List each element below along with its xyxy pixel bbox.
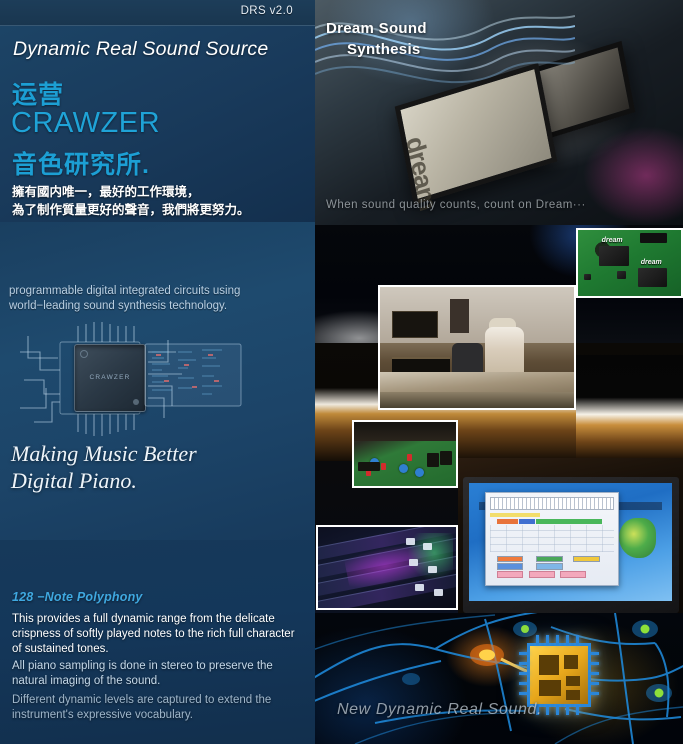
editor-bar-blue: [519, 519, 535, 524]
technology-headline: Making Music Better Digital Piano.: [11, 440, 197, 494]
pcb-component-2: [584, 274, 591, 281]
photo-blurred-light-strip: [576, 355, 683, 461]
editor-highlight-bar: [490, 513, 540, 518]
editor-bar-green: [536, 519, 602, 524]
editor-swatch-blue: [497, 563, 523, 569]
new-dynamic-real-sound-caption: New Dynamic Real Sound.: [337, 701, 542, 719]
technology-block: programmable digital integrated circuits…: [0, 222, 315, 540]
polyphony-paragraph-1: This provides a full dynamic range from …: [12, 612, 304, 656]
schematic-panel-icon: [144, 336, 244, 416]
hero-block: Dynamic Real Sound Source 运营 CRAWZER 音色研…: [0, 26, 315, 222]
mixing-console-front: [380, 392, 574, 408]
version-strip: DRS v2.0: [0, 0, 315, 26]
studio-speaker: [450, 299, 469, 333]
monitor-screen: [469, 483, 672, 601]
pcb-chip-2: dream: [638, 268, 667, 286]
technology-lede: programmable digital integrated circuits…: [9, 284, 240, 314]
hero-subtitle: 擁有國内唯一，最好的工作環境， 為了制作質量更好的聲音，我們將更努力。: [12, 183, 250, 219]
polyphony-title: 128 −Note Polyphony: [12, 590, 143, 604]
desktop-wallpaper-orb: [619, 518, 655, 558]
technology-lede-line-2: world−leading sound synthesis technology…: [9, 299, 240, 314]
editor-swatch-yellow: [573, 556, 599, 562]
polyphony-paragraph-3: Different dynamic levels are captured to…: [12, 693, 304, 723]
chip-orientation-marker: [80, 350, 88, 358]
hero-chinese-line-2: 音色研究所.: [12, 145, 150, 181]
brand-name: CRAWZER: [11, 107, 160, 140]
neural-network-icon: [315, 613, 683, 744]
editor-swatch-lightblue: [536, 563, 562, 569]
new-dynamic-real-sound-block: New Dynamic Real Sound.: [315, 613, 683, 744]
photo-recording-studio: [378, 285, 576, 410]
chip-package: CRAWZER: [74, 344, 146, 412]
dream-sound-title: Dream Sound Synthesis: [326, 18, 427, 60]
pcb-component-1: [617, 271, 626, 279]
board-connector: [358, 462, 380, 471]
mixer-button-5: [415, 584, 424, 591]
board-led-2: [381, 463, 386, 470]
editor-parameter-grid: [490, 525, 614, 553]
board-transistor-1: [427, 453, 439, 467]
photo-monitor-software: [458, 458, 683, 613]
technology-headline-line-2: Digital Piano.: [11, 467, 197, 494]
editor-bar-orange: [497, 519, 518, 524]
board-transistor-2: [440, 451, 452, 465]
dream-chip-primary: dream: [395, 63, 558, 206]
glowing-gold-chip-icon: [527, 643, 591, 707]
board-capacitor-1: [399, 464, 408, 473]
poster-root: DRS v2.0 Dynamic Real Sound Source 运营 CR…: [0, 0, 683, 744]
pcb-chip-1: dream: [599, 246, 630, 266]
left-panel: DRS v2.0 Dynamic Real Sound Source 运营 CR…: [0, 0, 315, 744]
photo-mixer-faders: [316, 525, 458, 610]
pcb-chip-1-label: dream: [602, 237, 623, 244]
mixer-button-2: [423, 543, 432, 550]
mixer-button-6: [434, 589, 443, 596]
dream-sound-title-line-2: Synthesis: [326, 39, 427, 60]
editor-window: [485, 492, 619, 586]
dream-sound-caption: When sound quality counts, count on Drea…: [326, 199, 586, 211]
editor-swatch-green: [536, 556, 562, 562]
board-backdrop: [354, 422, 456, 441]
photo-collage: dream dream: [315, 225, 683, 613]
hero-chinese-line-1: 运营: [12, 75, 64, 111]
chip-illustration: CRAWZER: [14, 318, 244, 438]
mixer-button-1: [406, 538, 415, 545]
technology-headline-line-1: Making Music Better: [11, 440, 197, 467]
drs-version-label: DRS v2.0: [241, 5, 293, 17]
editor-keyboard-map: [490, 497, 614, 510]
mixer-button-3: [409, 559, 418, 566]
chip-wordmark: CRAWZER: [75, 374, 145, 381]
pcb-chip-3: [640, 233, 667, 244]
editor-footer-cell-1: [497, 571, 523, 578]
dream-sound-title-line-1: Dream Sound: [326, 18, 427, 39]
page-title: Dynamic Real Sound Source: [13, 38, 268, 61]
hero-subtitle-line-2: 為了制作質量更好的聲音，我們將更努力。: [12, 201, 250, 219]
mixer-button-4: [428, 566, 437, 573]
photo-green-pcb: dream dream: [576, 228, 683, 298]
editor-footer-cell-2: [529, 571, 555, 578]
board-led-3: [407, 454, 412, 461]
chip-corner-dot: [133, 399, 139, 405]
studio-rack-upper: [392, 311, 439, 338]
dream-sound-hero: dream Dream Sound Synthesis When sound q…: [315, 0, 683, 225]
polyphony-paragraph-2: All piano sampling is done in stereo to …: [12, 659, 304, 689]
polyphony-block: 128 −Note Polyphony This provides a full…: [0, 540, 315, 744]
editor-footer-cell-3: [560, 571, 586, 578]
photo-circuit-board: [352, 420, 458, 488]
technology-lede-line-1: programmable digital integrated circuits…: [9, 284, 240, 299]
editor-swatch-orange: [497, 556, 523, 562]
board-capacitor-2: [415, 468, 424, 477]
hero-subtitle-line-1: 擁有國内唯一，最好的工作環境，: [12, 183, 250, 201]
pcb-chip-2-label: dream: [641, 259, 662, 266]
right-panel: dream Dream Sound Synthesis When sound q…: [315, 0, 683, 744]
